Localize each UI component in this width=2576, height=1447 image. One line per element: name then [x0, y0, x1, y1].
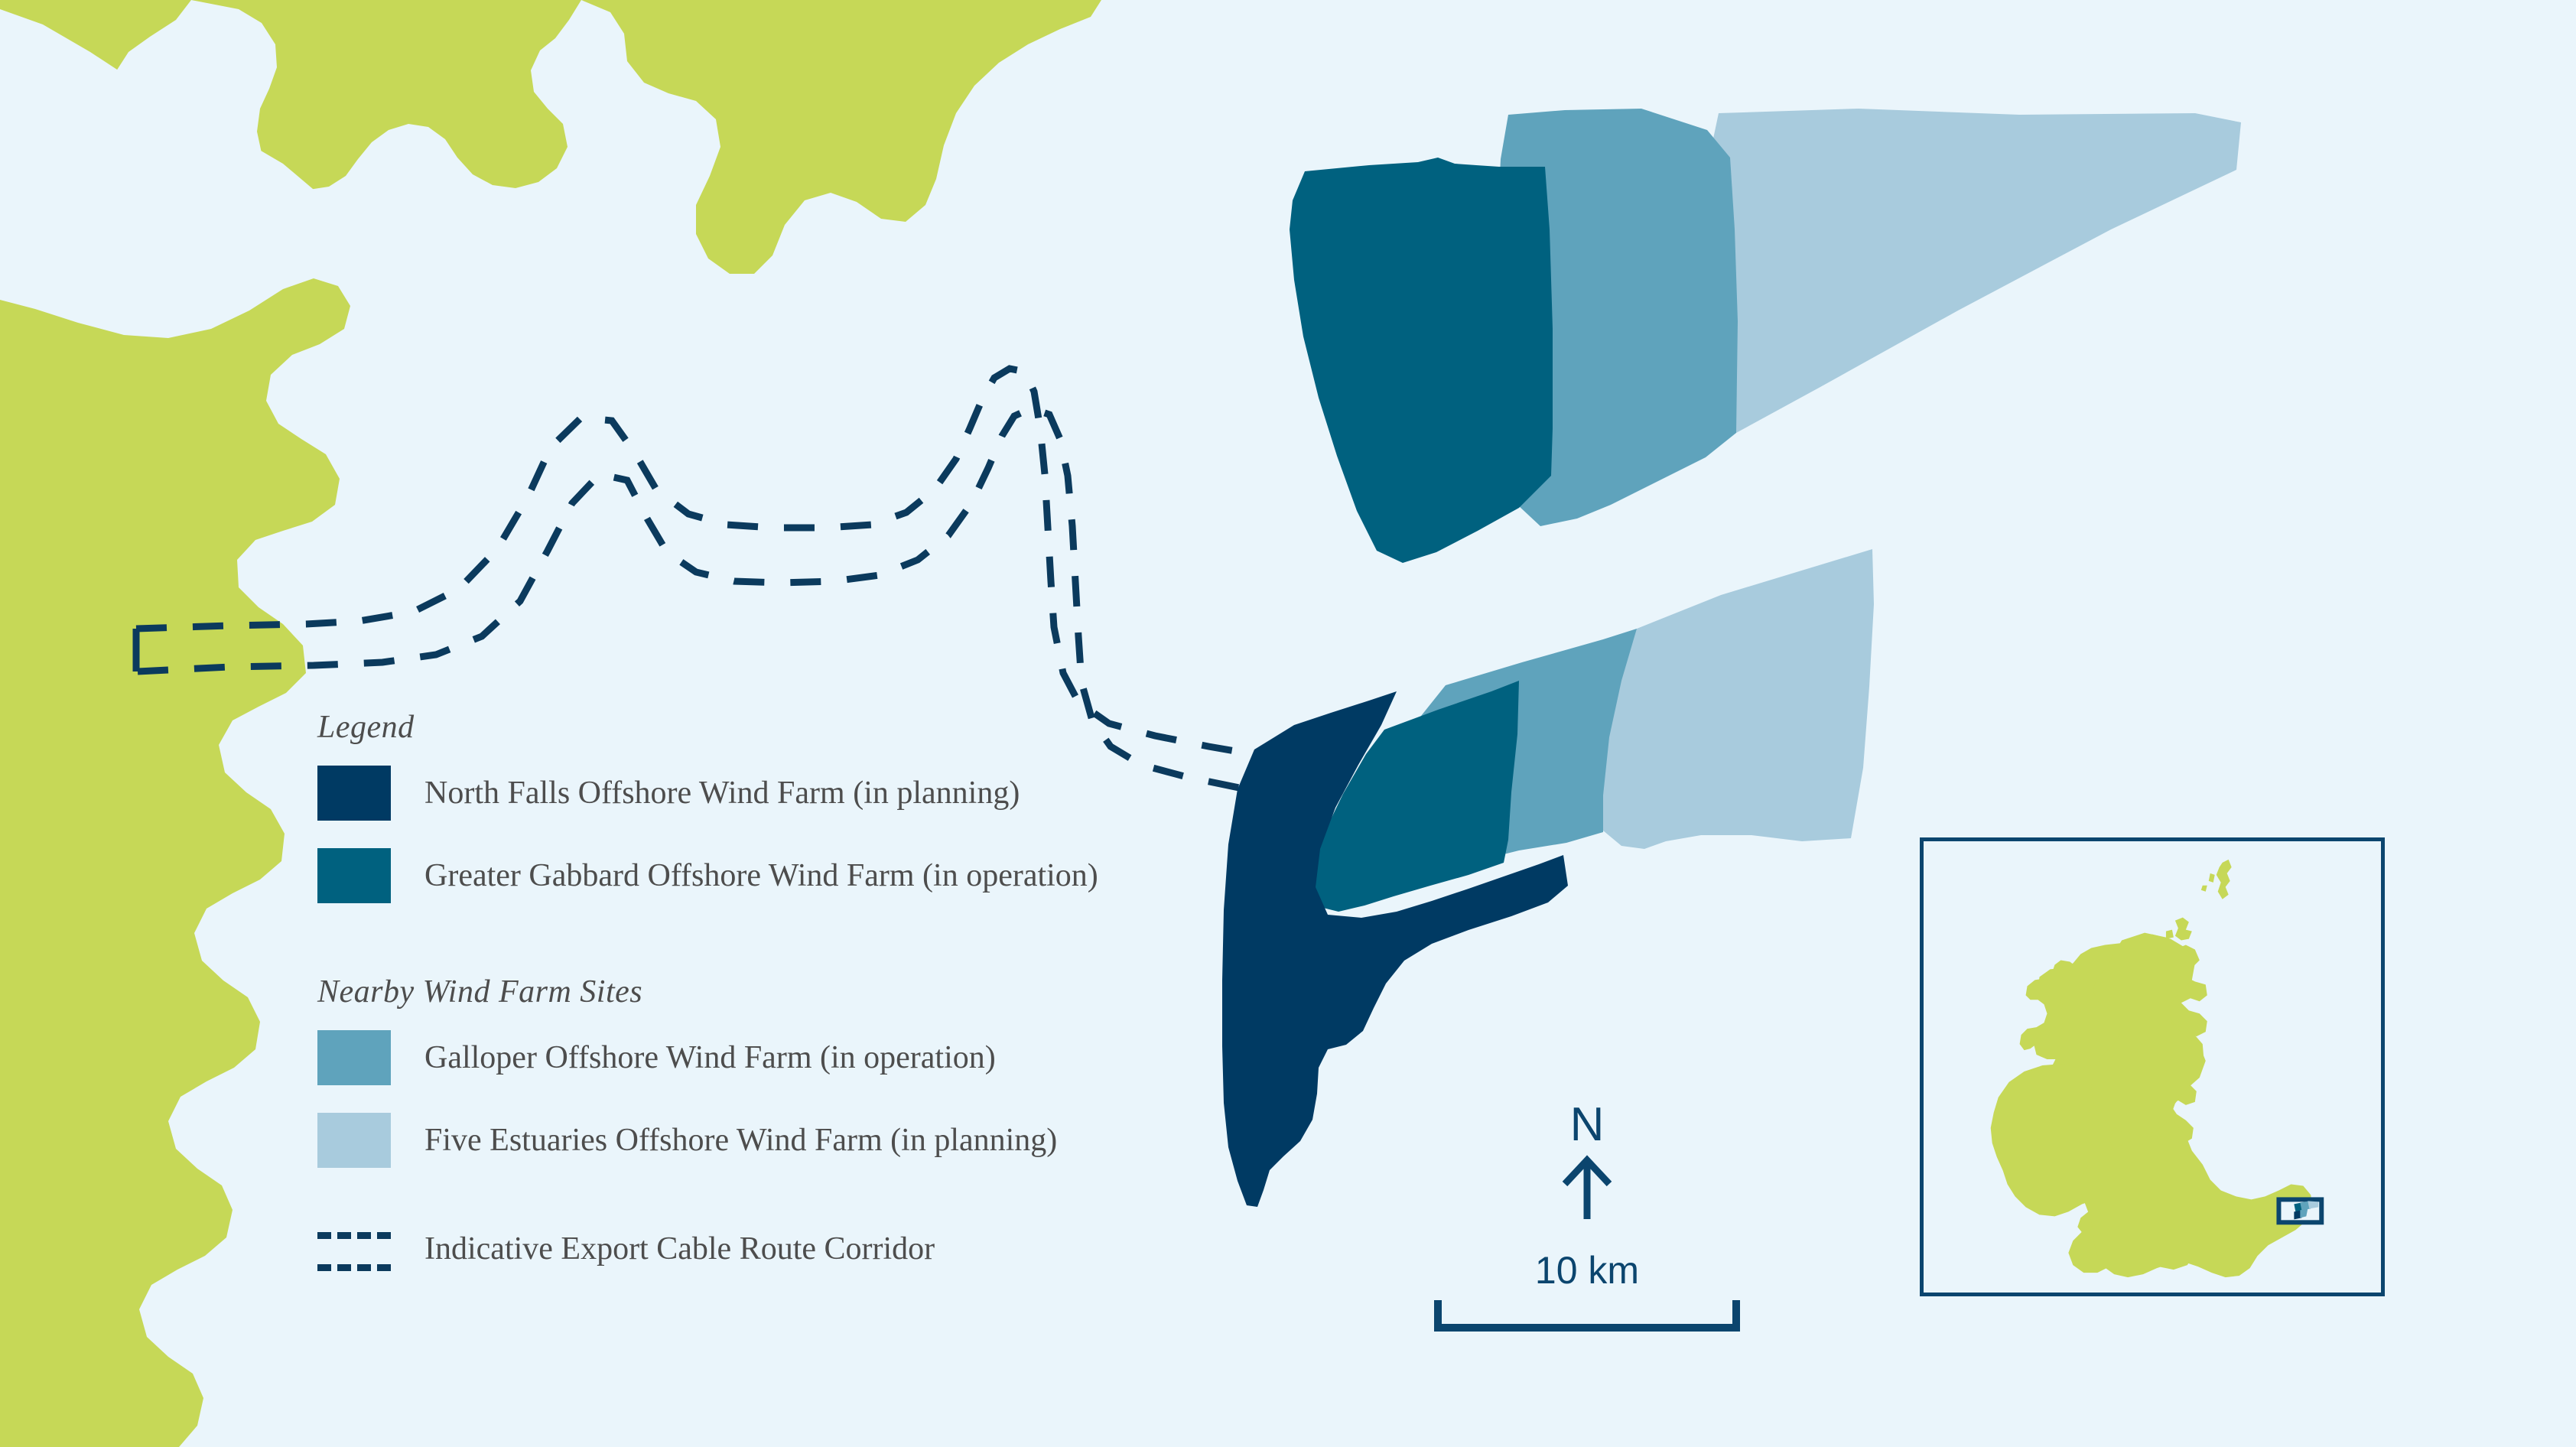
legend-item-greater-gabbard[interactable]: Greater Gabbard Offshore Wind Farm (in o… — [317, 843, 1273, 909]
north-arrow-icon — [1553, 1153, 1621, 1221]
legend-label-five-estuaries: Five Estuaries Offshore Wind Farm (in pl… — [424, 1124, 1057, 1156]
swatch-greater-gabbard — [317, 848, 391, 903]
legend-item-galloper[interactable]: Galloper Offshore Wind Farm (in operatio… — [317, 1025, 1273, 1091]
map-legend: Legend North Falls Offshore Wind Farm (i… — [317, 711, 1273, 1282]
north-arrow-and-scale: N 10 km — [1419, 1101, 1755, 1332]
legend-label-north-falls: North Falls Offshore Wind Farm (in plann… — [424, 777, 1020, 809]
swatch-five-estuaries — [317, 1113, 391, 1168]
swatch-galloper — [317, 1030, 391, 1085]
wind-farm-location-marker[interactable] — [2278, 1199, 2321, 1222]
legend-item-cable-corridor[interactable]: Indicative Export Cable Route Corridor — [317, 1216, 1273, 1282]
legend-label-cable-corridor: Indicative Export Cable Route Corridor — [424, 1233, 935, 1265]
dashed-line-icon — [317, 1221, 391, 1276]
north-letter: N — [1419, 1101, 1755, 1149]
uk-inset-svg — [1924, 841, 2381, 1293]
legend-title: Legend — [317, 711, 1273, 743]
legend-label-galloper: Galloper Offshore Wind Farm (in operatio… — [424, 1042, 996, 1074]
scale-bar-icon — [1434, 1299, 1740, 1332]
legend-subtitle-nearby: Nearby Wind Farm Sites — [317, 976, 1273, 1008]
scale-bar-label: 10 km — [1419, 1251, 1755, 1289]
uk-locator-inset-map[interactable] — [1920, 837, 2385, 1296]
legend-item-five-estuaries[interactable]: Five Estuaries Offshore Wind Farm (in pl… — [317, 1107, 1273, 1173]
legend-item-north-falls[interactable]: North Falls Offshore Wind Farm (in plann… — [317, 760, 1273, 826]
swatch-north-falls — [317, 766, 391, 821]
legend-label-greater-gabbard: Greater Gabbard Offshore Wind Farm (in o… — [424, 860, 1098, 892]
offshore-wind-farm-map: Legend North Falls Offshore Wind Farm (i… — [0, 0, 2576, 1447]
